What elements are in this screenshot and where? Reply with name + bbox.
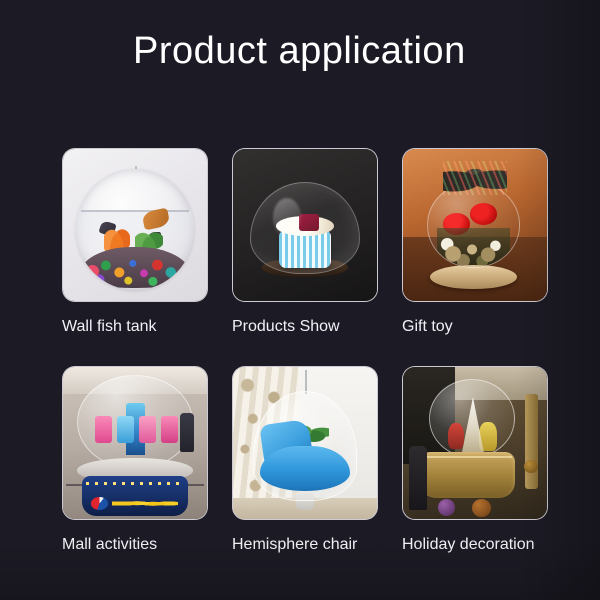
- dried-flower-filler: [437, 228, 509, 265]
- gallery-cell-wall-fish-tank[interactable]: Wall fish tank: [62, 148, 208, 336]
- signage-digit: [139, 416, 157, 443]
- gallery-cell-mall-activities[interactable]: Mall activities: [62, 366, 208, 554]
- red-figure: [448, 423, 463, 449]
- gallery-cell-gift-toy[interactable]: Gift toy: [402, 148, 548, 336]
- gallery-cell-holiday-decoration[interactable]: Holiday decoration: [402, 366, 548, 554]
- card-mall-activities[interactable]: [62, 366, 208, 520]
- cell-label-mall-activities: Mall activities: [62, 536, 208, 554]
- gold-pillar: [525, 394, 538, 488]
- cell-label-gift-toy: Gift toy: [402, 318, 548, 336]
- image-gift-toy: [403, 149, 547, 301]
- fish-tank-bowl: [76, 169, 194, 291]
- person-silhouette: [409, 446, 428, 510]
- display-base: [82, 476, 189, 516]
- glass-dome: [427, 182, 519, 267]
- product-application-gallery: Wall fish tank Products Show: [62, 148, 548, 554]
- gallery-row-2: Mall activities Hemisphere chair: [62, 366, 548, 554]
- decoration-ball: [438, 499, 455, 516]
- pepsi-logo-icon: [91, 497, 108, 510]
- ribbon-stripes: [443, 161, 506, 194]
- ribbon-bow: [443, 161, 506, 194]
- signage-digit: [161, 416, 179, 443]
- card-wall-fish-tank[interactable]: [62, 148, 208, 302]
- gallery-cell-products-show[interactable]: Products Show: [232, 148, 378, 336]
- card-holiday-decoration[interactable]: [402, 366, 548, 520]
- base-light-strip: [86, 482, 184, 485]
- card-gift-toy[interactable]: [402, 148, 548, 302]
- signage-digit: [117, 416, 135, 443]
- dome-highlight: [273, 198, 301, 237]
- signage-digit: [95, 416, 113, 443]
- cell-label-wall-fish-tank: Wall fish tank: [62, 318, 208, 336]
- decoration-ball: [472, 499, 491, 517]
- person-silhouette: [180, 413, 194, 453]
- image-holiday-decoration: [403, 367, 547, 519]
- base-light-strip: [424, 456, 511, 458]
- wooden-base: [430, 265, 516, 289]
- blue-seat-cushion: [260, 446, 349, 491]
- page-title: Product application: [133, 30, 466, 73]
- year-signage-2018: [95, 416, 179, 443]
- image-mall-activities: [63, 367, 207, 519]
- gold-display-base: [420, 452, 515, 498]
- cell-label-products-show: Products Show: [232, 318, 378, 336]
- acrylic-dome: [250, 182, 359, 273]
- red-rose: [470, 203, 497, 225]
- image-wall-fish-tank: [63, 149, 207, 301]
- cell-label-holiday-decoration: Holiday decoration: [402, 536, 548, 554]
- clear-dome: [429, 379, 515, 458]
- image-hemisphere-chair: [233, 367, 377, 519]
- fish-tank-waterline: [81, 210, 190, 212]
- image-products-show: [233, 149, 377, 301]
- gallery-cell-hemisphere-chair[interactable]: Hemisphere chair: [232, 366, 378, 554]
- card-products-show[interactable]: [232, 148, 378, 302]
- cell-label-hemisphere-chair: Hemisphere chair: [232, 536, 378, 554]
- card-hemisphere-chair[interactable]: [232, 366, 378, 520]
- gallery-row-1: Wall fish tank Products Show: [62, 148, 548, 336]
- chinese-signage-text: [112, 497, 178, 510]
